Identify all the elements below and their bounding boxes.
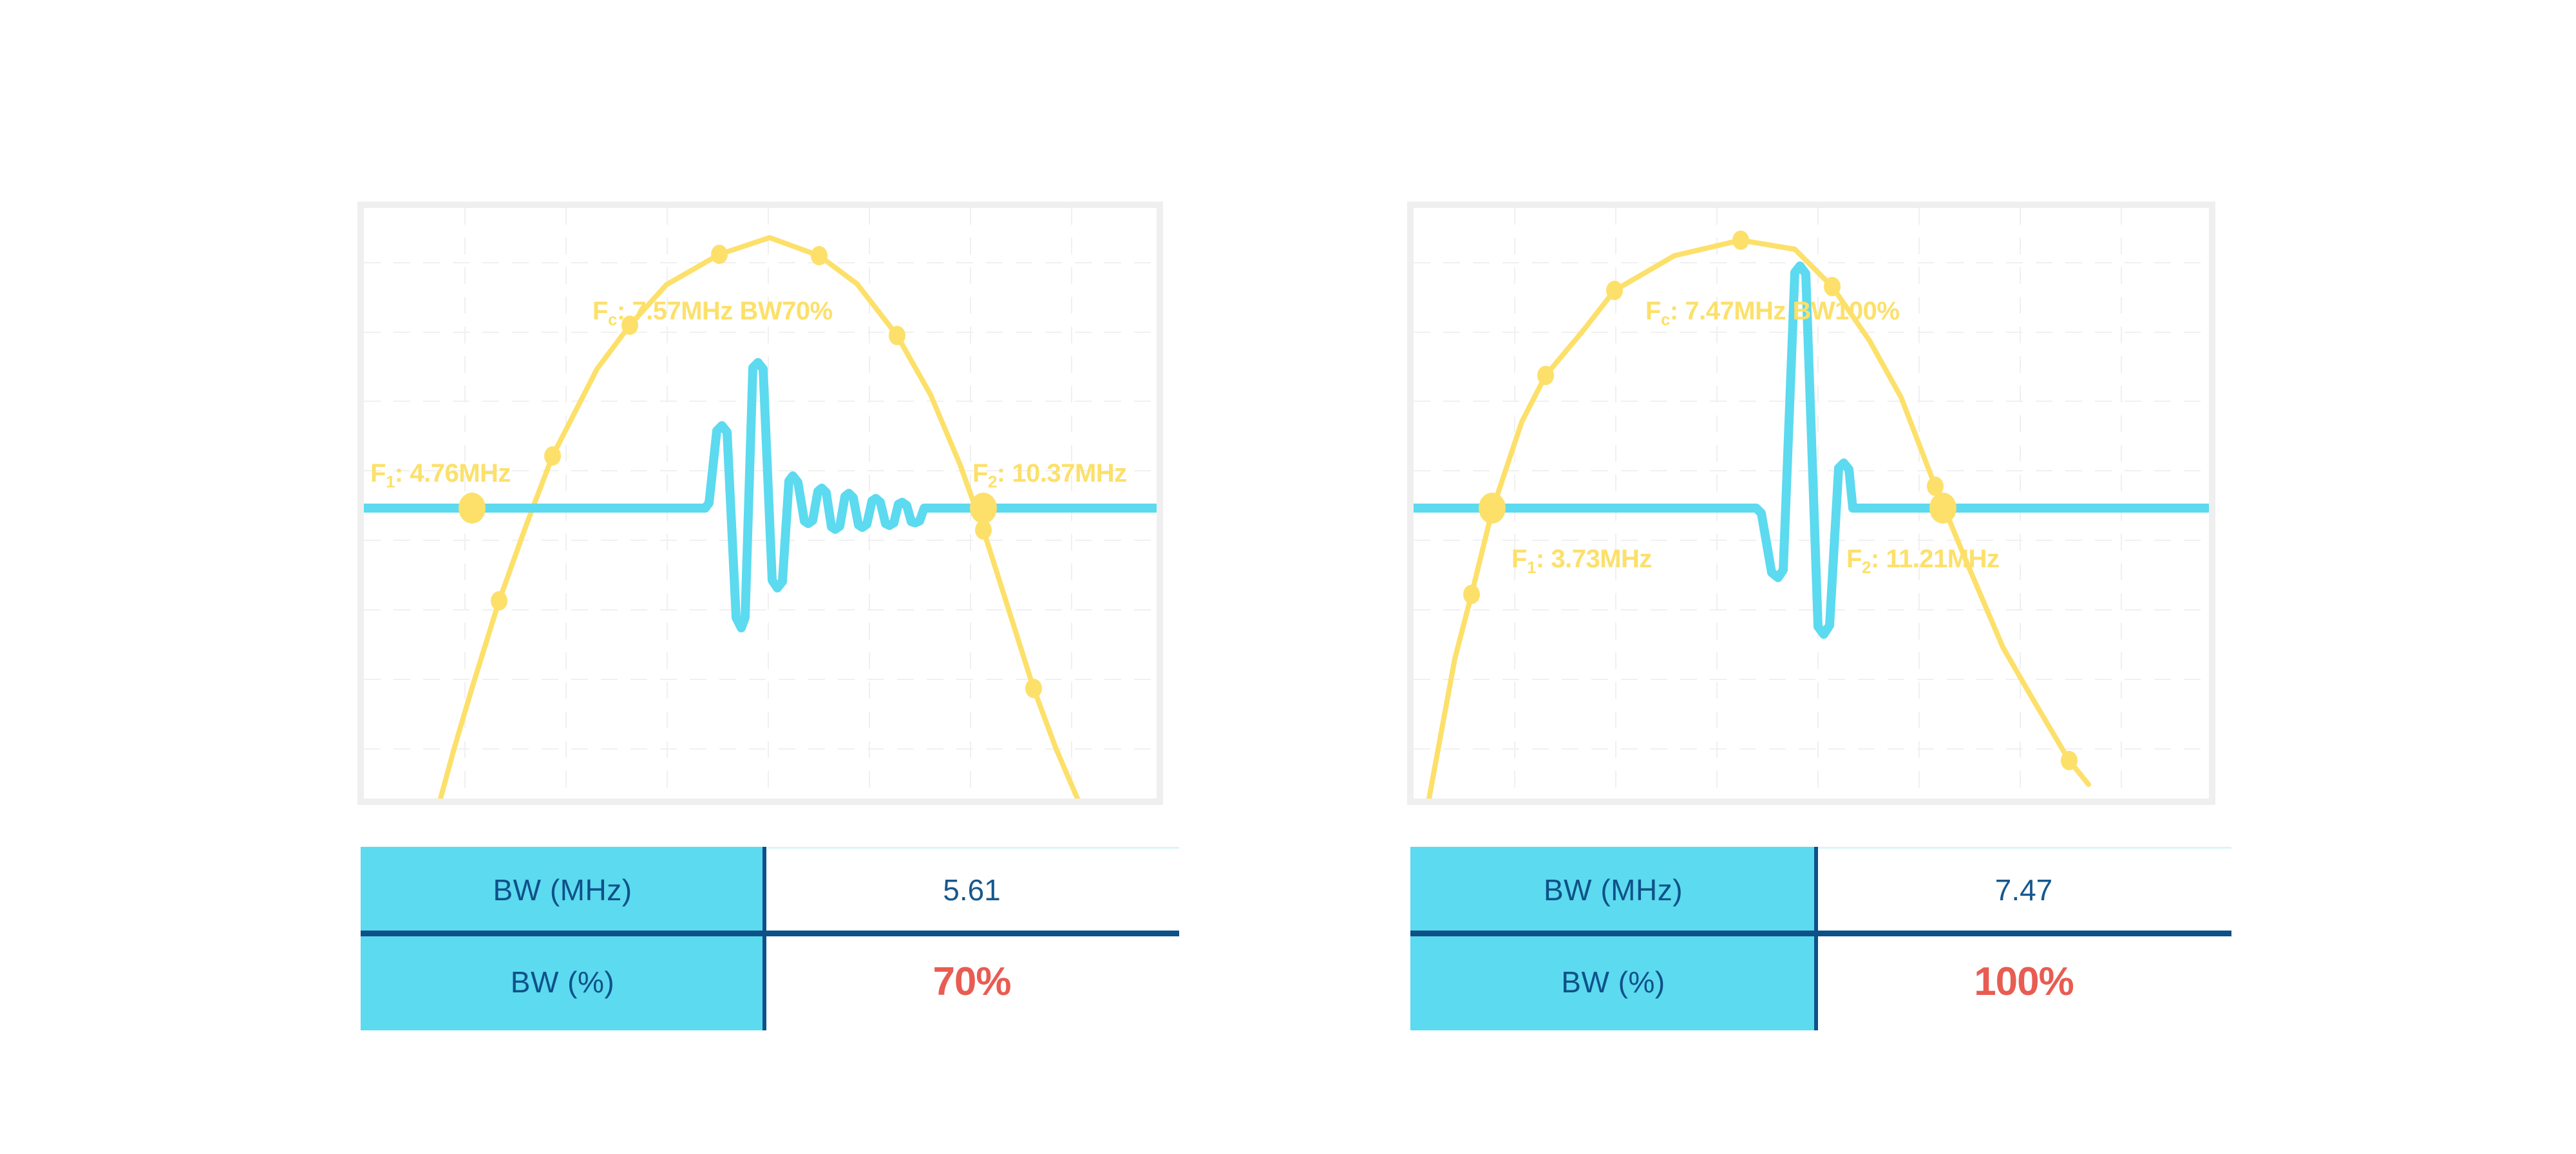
right-table-label-bw-pct: BW (%): [1410, 933, 1816, 1030]
left-f1-text: : 4.76MHz: [395, 459, 511, 487]
right-f2-symbol: F: [1846, 545, 1862, 573]
left-fc-subscript: c: [608, 310, 617, 329]
left-f1-label: F1: 4.76MHz: [370, 460, 511, 486]
right-table-top-rule: [1816, 847, 2231, 849]
right-chart-panel: Fc: 7.47MHz BW100% F1: 3.73MHz F2: 11.21…: [1407, 202, 2215, 805]
left-table-middle-rule: [361, 931, 1179, 936]
left-f2-label: F2: 10.37MHz: [972, 460, 1127, 486]
left-center-frequency-label: Fc: 7.57MHz BW70%: [592, 298, 833, 324]
right-fc-subscript: c: [1661, 310, 1670, 329]
left-table-column-divider: [762, 847, 766, 1030]
left-table-row-bw-pct: BW (%) 70%: [361, 933, 1179, 1030]
left-f2-symbol: F: [972, 459, 988, 487]
right-center-frequency-label: Fc: 7.47MHz BW100%: [1645, 298, 1899, 324]
left-plot-area: Fc: 7.57MHz BW70% F1: 4.76MHz F2: 10.37M…: [364, 208, 1157, 799]
right-table-middle-rule: [1410, 931, 2231, 936]
right-table-row-bw-pct: BW (%) 100%: [1410, 933, 2231, 1030]
right-table-value-bw-mhz: 7.47: [1995, 873, 2053, 907]
right-f1-subscript: 1: [1527, 558, 1536, 577]
left-f1-symbol: F: [370, 459, 386, 487]
right-table-value-bw-pct: 100%: [1974, 959, 2074, 1005]
left-table-label-bw-mhz: BW (MHz): [361, 847, 764, 933]
left-table-label-bw-pct: BW (%): [361, 933, 764, 1030]
left-chart-panel: Fc: 7.57MHz BW70% F1: 4.76MHz F2: 10.37M…: [357, 202, 1163, 805]
left-bw-table: BW (MHz) 5.61 BW (%) 70%: [361, 847, 1179, 1030]
left-f1-subscript: 1: [386, 472, 395, 491]
left-annotations: Fc: 7.57MHz BW70% F1: 4.76MHz F2: 10.37M…: [364, 208, 1157, 799]
left-table-top-rule: [764, 847, 1179, 849]
right-f1-label: F1: 3.73MHz: [1511, 546, 1652, 572]
right-f2-subscript: 2: [1862, 558, 1871, 577]
right-fc-text: : 7.47MHz BW100%: [1670, 297, 1900, 325]
right-fc-symbol: F: [1645, 297, 1661, 325]
right-f2-text: : 11.21MHz: [1871, 545, 2000, 573]
right-f1-text: : 3.73MHz: [1536, 545, 1652, 573]
right-bw-table: BW (MHz) 7.47 BW (%) 100%: [1410, 847, 2231, 1030]
left-fc-text: : 7.57MHz BW70%: [617, 297, 833, 325]
right-table-row-bw-mhz: BW (MHz) 7.47: [1410, 847, 2231, 933]
right-table-column-divider: [1814, 847, 1818, 1030]
left-table-row-bw-mhz: BW (MHz) 5.61: [361, 847, 1179, 933]
left-fc-symbol: F: [592, 297, 608, 325]
right-table-value-cell-bw-mhz: 7.47: [1816, 847, 2231, 933]
left-table-value-bw-mhz: 5.61: [943, 873, 1001, 907]
right-annotations: Fc: 7.47MHz BW100% F1: 3.73MHz F2: 11.21…: [1414, 208, 2209, 799]
left-table-value-cell-bw-pct: 70%: [764, 933, 1179, 1030]
right-f1-symbol: F: [1511, 545, 1527, 573]
left-table-value-bw-pct: 70%: [933, 959, 1010, 1005]
left-f2-subscript: 2: [988, 472, 997, 491]
right-f2-label: F2: 11.21MHz: [1846, 546, 1999, 572]
left-f2-text: : 10.37MHz: [997, 459, 1127, 487]
right-table-label-bw-mhz: BW (MHz): [1410, 847, 1816, 933]
left-table-value-cell-bw-mhz: 5.61: [764, 847, 1179, 933]
right-table-value-cell-bw-pct: 100%: [1816, 933, 2231, 1030]
right-plot-area: Fc: 7.47MHz BW100% F1: 3.73MHz F2: 11.21…: [1414, 208, 2209, 799]
